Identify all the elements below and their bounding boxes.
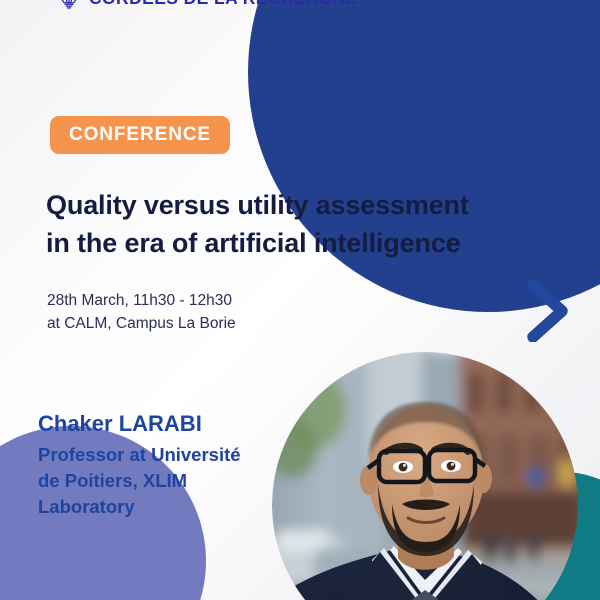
speaker-role-line-2: de Poitiers, XLIM — [38, 468, 278, 494]
speaker-name: Chaker LARABI — [38, 410, 278, 438]
blue-circle-decoration — [248, 0, 600, 312]
speaker-info: Chaker LARABI Professor at Université de… — [38, 410, 278, 520]
conference-badge: CONFERENCE — [50, 116, 230, 154]
speaker-role-line-3: Laboratory — [38, 494, 278, 520]
lamp-crown-icon — [56, 0, 82, 12]
organization-logo: CORDÉES DE LA RECHERCHE — [56, 0, 357, 12]
event-location: at CALM, Campus La Borie — [47, 312, 236, 335]
event-details: 28th March, 11h30 - 12h30 at CALM, Campu… — [47, 289, 236, 336]
title-line-1: Quality versus utility assessment — [46, 186, 546, 224]
logo-text: CORDÉES DE LA RECHERCHE — [89, 0, 357, 8]
event-datetime: 28th March, 11h30 - 12h30 — [47, 289, 236, 312]
speaker-role-line-1: Professor at Université — [38, 442, 278, 468]
page-title: Quality versus utility assessment in the… — [46, 186, 546, 263]
conference-poster: CORDÉES DE LA RECHERCHE CONFERENCE Quali… — [0, 0, 600, 600]
avatar — [272, 352, 578, 600]
chevron-right-icon — [524, 280, 572, 342]
title-line-2: in the era of artificial intelligence — [46, 224, 546, 262]
